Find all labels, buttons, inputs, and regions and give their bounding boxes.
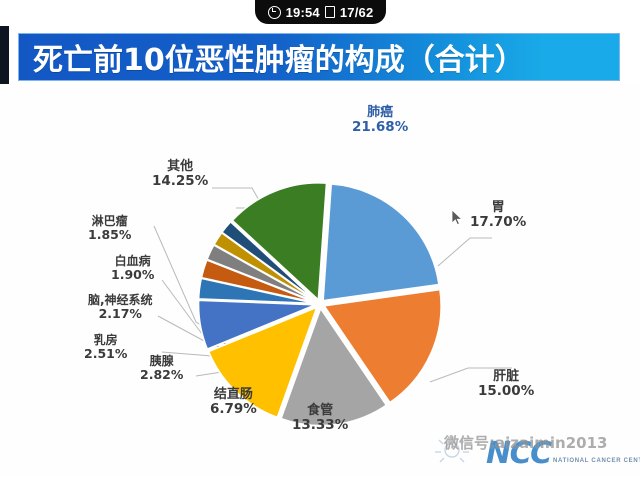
clock-icon [268,6,281,19]
pie-label-name: 胃 [470,200,526,215]
pie-label-其他: 其他 14.25% [152,159,208,190]
pie-label-乳房: 乳房 2.51% [84,333,127,362]
pie-chart: 肺癌 21.68% 胃 17.70% 肝脏 15.00% 食管 13.33% 结… [0,84,640,477]
pie-label-value: 13.33% [292,418,348,434]
watermark-logo-block: NCC NATIONAL CANCER CENTER 微信号:aizaimin2… [428,428,634,474]
wechat-watermark: 微信号:aizaimin2013 [444,432,607,453]
pie-label-value: 1.90% [111,268,154,283]
pie-label-name: 结直肠 [210,387,257,402]
pie-label-value: 21.68% [352,120,408,136]
page-counter: 17/62 [340,5,374,20]
status-time: 19:54 [286,5,320,20]
pie-label-淋巴瘤: 淋巴瘤 1.85% [88,214,131,243]
title-banner: 死亡前10位恶性肿瘤的构成（合计） [18,33,620,81]
pie-label-value: 2.17% [88,307,153,322]
pie-label-肝脏: 肝脏 15.00% [478,369,534,400]
status-bar: 19:54 17/62 [0,0,640,26]
pie-label-value: 1.85% [88,228,131,243]
pie-label-食管: 食管 13.33% [292,403,348,434]
pie-label-肺癌: 肺癌 21.68% [352,105,408,136]
pie-label-value: 2.82% [140,368,183,383]
slide-screenshot: 19:54 17/62 死亡前10位恶性肿瘤的构成（合计） [0,0,640,477]
pie-label-value: 2.51% [84,347,127,362]
pie-label-value: 6.79% [210,402,257,418]
mouse-pointer-icon [451,209,463,227]
pie-label-value: 14.25% [152,174,208,190]
page-title: 死亡前10位恶性肿瘤的构成（合计） [19,35,525,79]
pie-label-name: 胰腺 [140,354,183,368]
pie-label-name: 脑,神经系统 [88,293,153,307]
pie-label-白血病: 白血病 1.90% [111,254,154,283]
pie-label-name: 白血病 [111,254,154,268]
pie-label-value: 15.00% [478,384,534,400]
status-pill: 19:54 17/62 [255,0,386,24]
pie-label-name: 其他 [152,159,208,174]
pie-label-name: 乳房 [84,333,127,347]
pie-slice-肺癌 [323,184,439,301]
battery-icon [325,6,335,18]
pie-label-name: 肝脏 [478,369,534,384]
ncc-logo-subtitle: NATIONAL CANCER CENTER [553,458,640,464]
pie-label-name: 淋巴瘤 [88,214,131,228]
pie-label-结直肠: 结直肠 6.79% [210,387,257,418]
pie-label-胰腺: 胰腺 2.82% [140,354,183,383]
pie-label-name: 食管 [292,403,348,418]
pie-label-胃: 胃 17.70% [470,200,526,231]
pie-label-name: 肺癌 [352,105,408,120]
pie-label-value: 17.70% [470,215,526,231]
pie-label-脑神经系统: 脑,神经系统 2.17% [88,293,153,322]
